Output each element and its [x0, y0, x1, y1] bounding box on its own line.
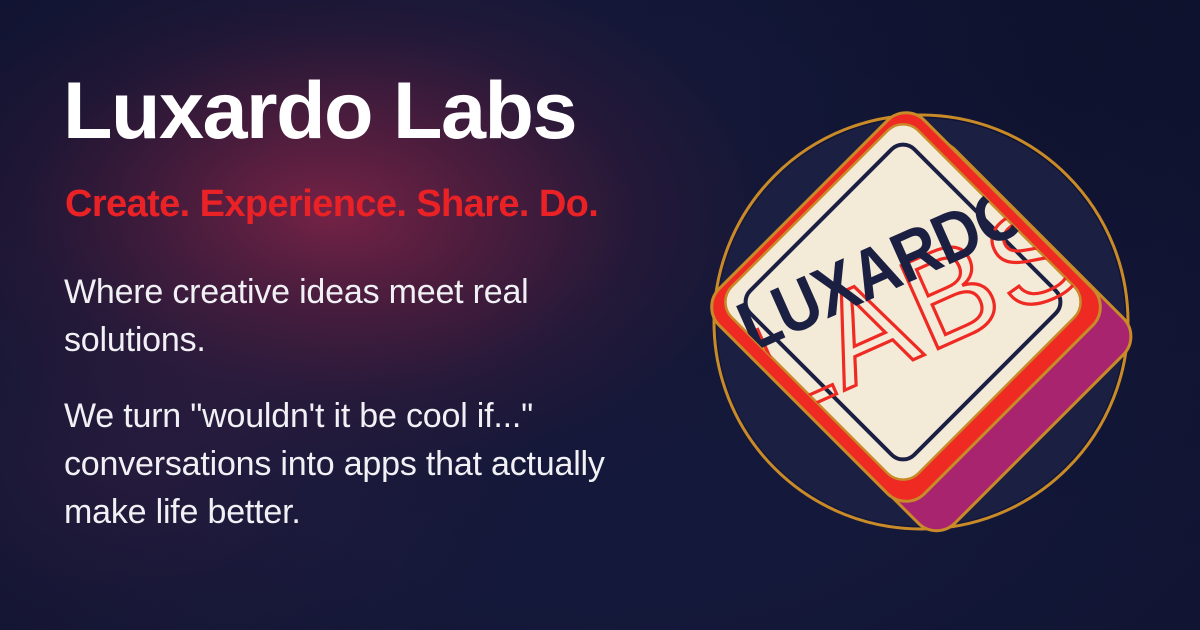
description-paragraph-2: We turn "wouldn't it be cool if..." conv…	[64, 392, 644, 536]
logo-badge: LABS LUXARDO	[683, 82, 1163, 562]
description-paragraph-1: Where creative ideas meet real solutions…	[64, 268, 624, 364]
hero-text-block: Luxardo Labs Create. Experience. Share. …	[63, 0, 703, 630]
tagline: Create. Experience. Share. Do.	[65, 185, 598, 223]
page-title: Luxardo Labs	[63, 71, 576, 152]
share-banner-canvas: Luxardo Labs Create. Experience. Share. …	[0, 0, 1200, 630]
